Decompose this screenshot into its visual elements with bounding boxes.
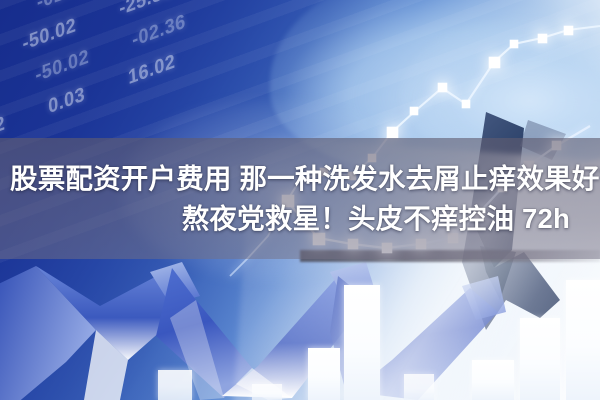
chart-node (387, 127, 398, 138)
chart-node (538, 34, 547, 43)
chart-node (438, 83, 447, 92)
chart-node (489, 57, 500, 68)
chart-node (510, 40, 518, 48)
chart-node (462, 100, 470, 108)
caption-line-1: 股票配资开户费用 那一种洗发水去屑止痒效果好？ (6, 159, 594, 199)
chart-node (410, 107, 418, 115)
caption-overlay-band: 股票配资开户费用 那一种洗发水去屑止痒效果好？ 熬夜党救星！头皮不痒控油 72h (0, 138, 600, 259)
chart-node (564, 26, 573, 35)
stock-banner-image: -25.32-02.3621.1645.02 -02.36-11.2545.02… (0, 0, 600, 400)
caption-line-2: 熬夜党救星！头皮不痒控油 72h (6, 199, 594, 239)
